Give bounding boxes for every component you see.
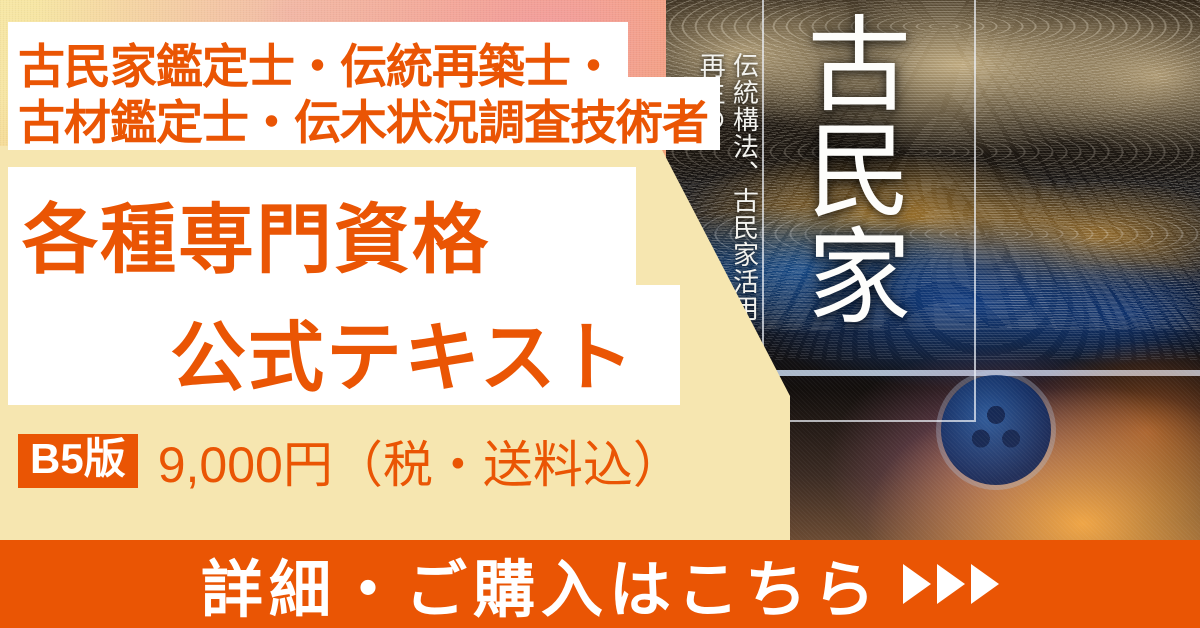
book-cover-title: 古民家	[786, 10, 909, 328]
format-badge: B5版	[18, 434, 138, 488]
triangle-right-icon	[937, 564, 965, 604]
price-amount: 9,000円（税・送料込）	[158, 425, 683, 497]
triangle-right-icon	[903, 564, 931, 604]
cta-bar[interactable]: 詳細・ご購入はこちら	[0, 540, 1200, 628]
title-text-line1: 各種専門資格	[22, 178, 490, 288]
promo-banner: 伝統構法、古民家活用のための調査と再生の 古民家 古民家鑑定士・伝統再築士・ 古…	[0, 0, 1200, 628]
headline-text-line2: 古材鑑定士・伝木状況調査技術者	[18, 84, 708, 153]
cta-arrow-group	[903, 564, 999, 604]
price-row: B5版 9,000円（税・送料込）	[18, 425, 683, 497]
title-text-line2: 公式テキスト	[170, 296, 636, 406]
cta-label: 詳細・ご購入はこちら	[201, 539, 881, 628]
triangle-right-icon	[971, 564, 999, 604]
